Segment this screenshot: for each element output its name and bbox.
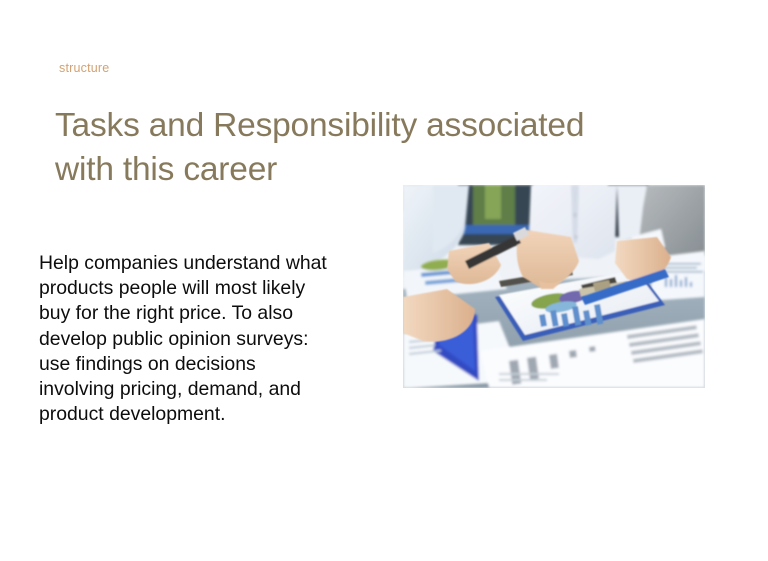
body-line-1: Help companies understand what xyxy=(39,251,369,276)
body-line-7: product development. xyxy=(39,402,369,427)
business-team-analyzing-charts-photo xyxy=(403,185,705,388)
body-paragraph: Help companies understand what products … xyxy=(39,251,369,427)
body-line-6: involving pricing, demand, and xyxy=(39,377,369,402)
page-title-line-1: Tasks and Responsibility associated xyxy=(55,104,695,148)
body-line-2: products people will most likely xyxy=(39,276,369,301)
slide-kicker: structure xyxy=(59,61,109,75)
body-line-3: buy for the right price. To also xyxy=(39,301,369,326)
slide: structure Tasks and Responsibility assoc… xyxy=(0,0,768,561)
body-line-4: develop public opinion surveys: xyxy=(39,327,369,352)
page-title: Tasks and Responsibility associated with… xyxy=(55,104,695,192)
body-line-5: use findings on decisions xyxy=(39,352,369,377)
